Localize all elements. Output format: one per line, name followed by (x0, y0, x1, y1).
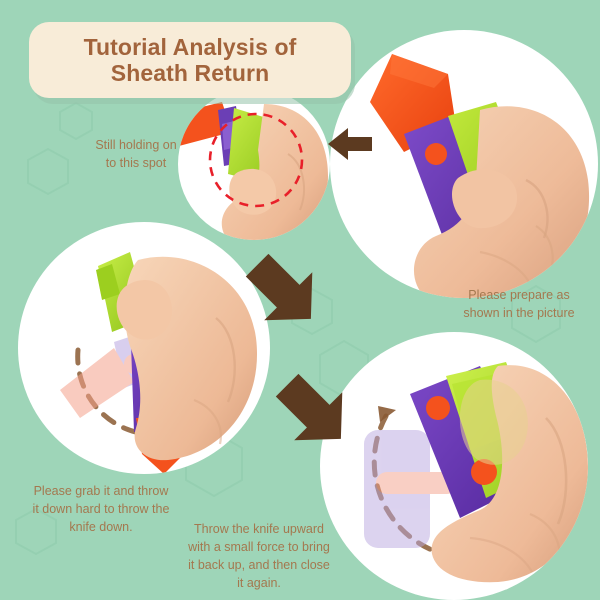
arrow-left-icon (324, 118, 376, 170)
panel-throw-up (320, 332, 588, 600)
caption-holding: Still holding on to this spot (76, 136, 196, 172)
photo-hand-swinging-knife-upward (320, 332, 588, 600)
caption-throw-up: Throw the knife upward with a small forc… (164, 520, 354, 593)
arrow-down-left-bottom-icon (268, 366, 360, 458)
title-line-1: Tutorial Analysis of (84, 34, 297, 60)
arrow-down-left-top-icon (238, 246, 330, 338)
panel-holding (178, 88, 330, 240)
page-title: Tutorial Analysis of Sheath Return (84, 34, 297, 87)
caption-prepare: Please prepare as shown in the picture (440, 286, 598, 322)
panel-throw-down (18, 222, 270, 474)
photo-hand-swinging-knife-downward (18, 222, 270, 474)
infographic-root: Tutorial Analysis of Sheath Return Still… (0, 0, 600, 600)
title-line-2: Sheath Return (84, 60, 297, 86)
photo-hand-gripping-green-handle (178, 88, 330, 240)
title-banner: Tutorial Analysis of Sheath Return (29, 22, 351, 98)
